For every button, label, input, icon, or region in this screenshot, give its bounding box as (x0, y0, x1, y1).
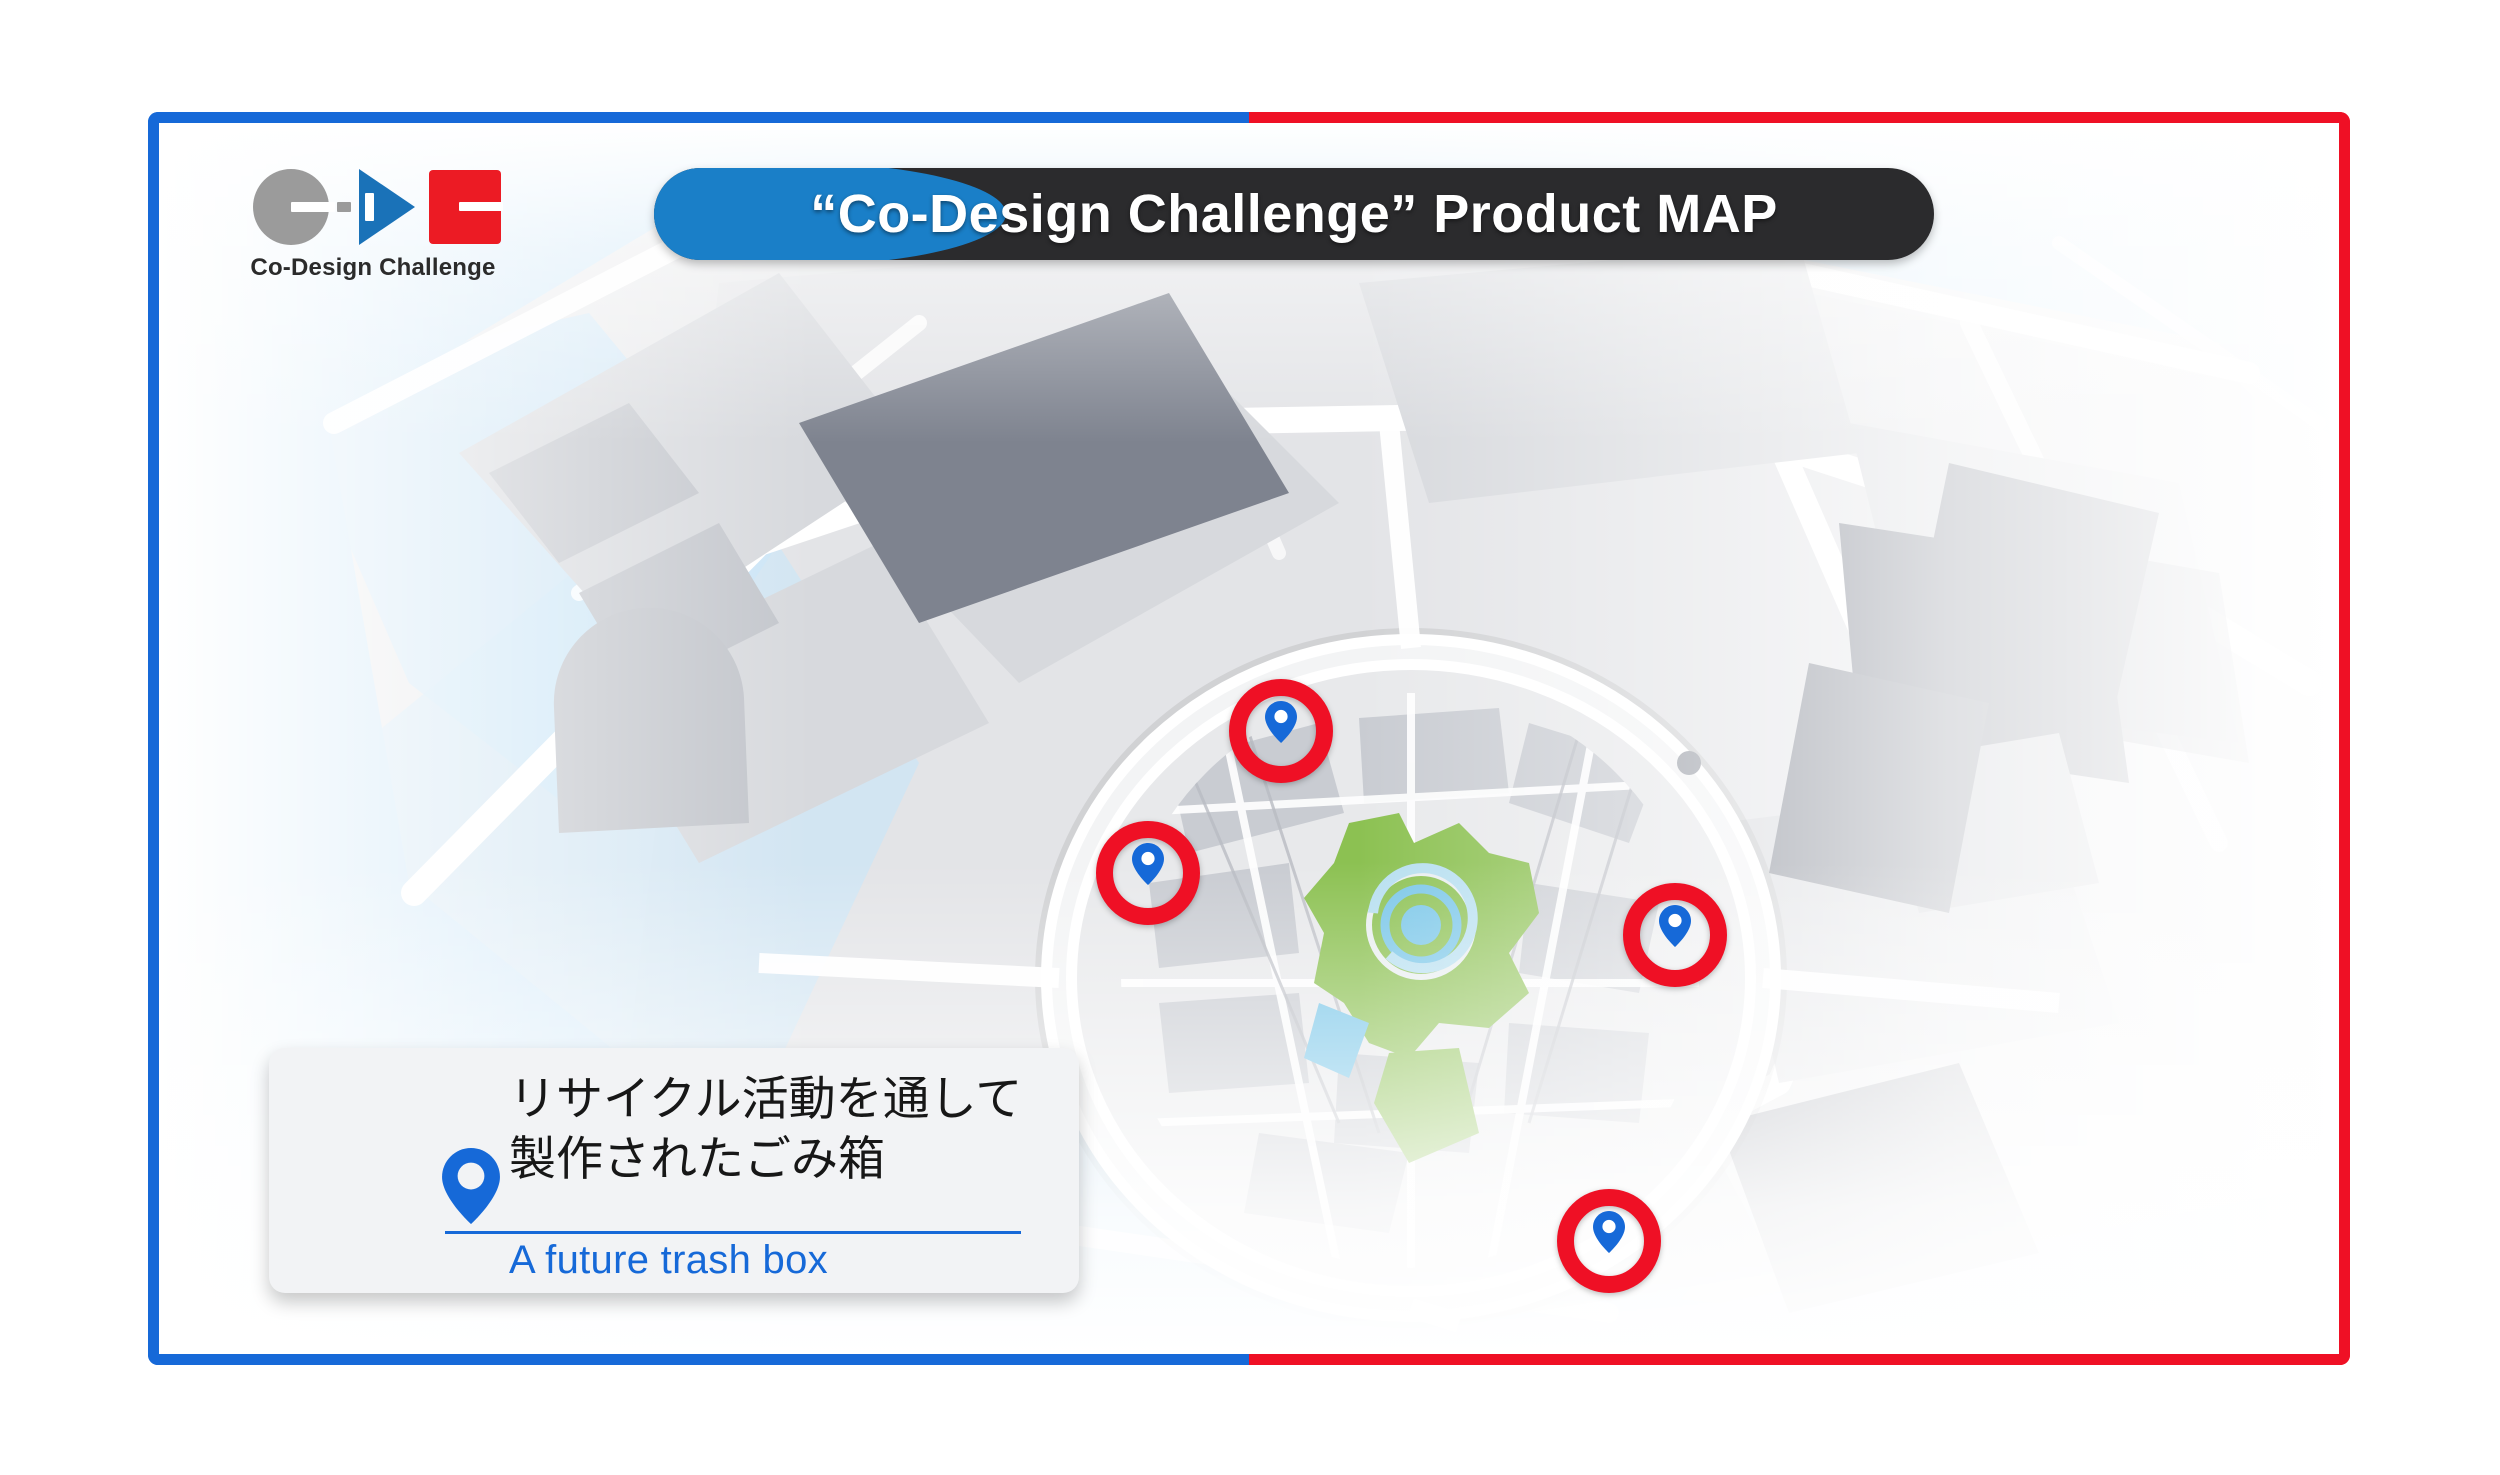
card-title-jp-line2: 製作されたごみ箱 (509, 1130, 1069, 1190)
info-card[interactable]: リサイクル活動を通して 製作されたごみ箱 A future trash box (269, 1048, 1079, 1293)
card-title-japanese: リサイクル活動を通して 製作されたごみ箱 (509, 1070, 1069, 1190)
frame-border-left (148, 112, 159, 1365)
co-design-challenge-logo: Co-Design Challenge (245, 166, 545, 296)
map-canvas[interactable]: Co-Design Challenge “Co-Design Challenge… (159, 123, 2339, 1354)
page-title: “Co-Design Challenge” Product MAP (654, 168, 1934, 260)
map-pin-icon (1659, 905, 1691, 947)
frame-border-bottom-blue (148, 1354, 1249, 1365)
frame-border-top-blue (148, 112, 1249, 123)
logo-marks-icon (253, 166, 503, 248)
frame-border-right (2339, 112, 2350, 1365)
map-marker-south[interactable] (1557, 1189, 1661, 1293)
map-pin-icon (1593, 1211, 1625, 1253)
map-marker-north[interactable] (1229, 679, 1333, 783)
frame-border-top-red (1249, 112, 2350, 123)
frame-border-bottom-red (1249, 1354, 2350, 1365)
logo-caption: Co-Design Challenge (245, 254, 501, 282)
card-title-jp-line1: リサイクル活動を通して (509, 1070, 1069, 1130)
map-pin-icon (1265, 701, 1297, 743)
map-pin-icon (1132, 843, 1164, 885)
card-title-english: A future trash box (509, 1238, 1069, 1283)
poster-frame: Co-Design Challenge “Co-Design Challenge… (148, 112, 2350, 1365)
card-map-pin-icon (441, 1148, 501, 1224)
map-marker-west[interactable] (1096, 821, 1200, 925)
title-banner: “Co-Design Challenge” Product MAP (654, 168, 1934, 260)
map-marker-east[interactable] (1623, 883, 1727, 987)
card-divider (445, 1231, 1021, 1234)
